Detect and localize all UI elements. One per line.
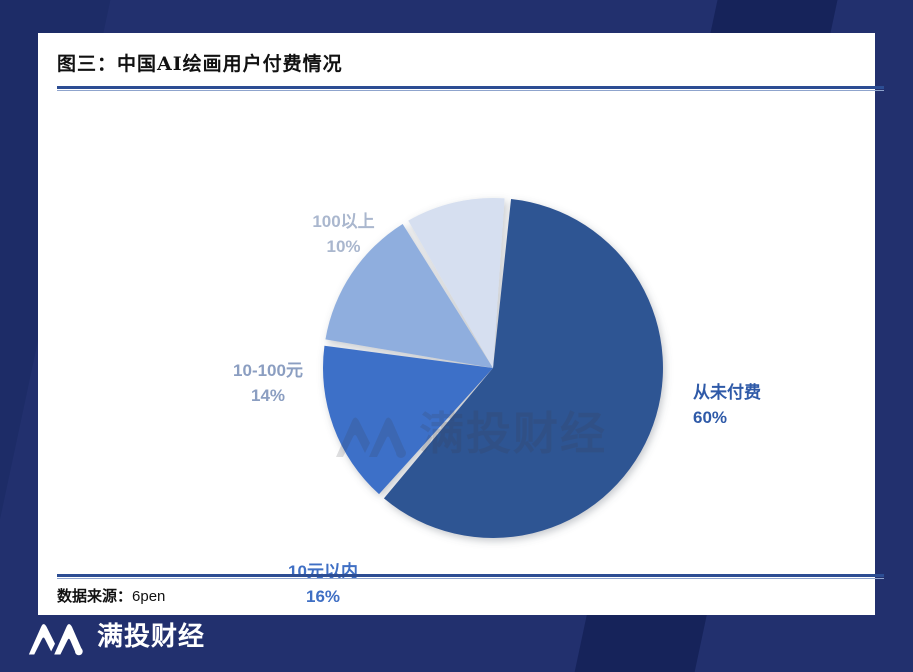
title-divider [57,86,884,89]
slice-label-10-to-100-yuan: 10-100元 14% [188,359,348,408]
chart-header: 图三：中国AI绘画用户付费情况 [57,49,884,91]
slice-label-percent: 16% [248,585,398,610]
slice-label-over-100: 100以上 10% [266,210,421,259]
brand-name: 满投财经 [97,623,205,649]
source-value: 6pen [132,588,165,605]
footer-divider-thin [57,578,884,579]
slice-label-percent: 10% [266,235,421,260]
slice-label-text: 10-100元 [233,361,303,380]
pie-chart-plot-area: 满投财经 从未付费 60% 10元以内 16% 10-100元 14% 100以… [38,93,875,563]
source-label: 数据来源： [57,587,132,605]
mountain-m-logo-icon [24,616,86,656]
source-note: 数据来源：6pen [57,585,165,606]
slice-label-percent: 14% [188,384,348,409]
pie-chart-svg [38,93,875,563]
slice-label-under-10-yuan: 10元以内 16% [248,560,398,609]
brand-bar: 满投财经 [24,614,205,658]
slice-label-percent: 60% [693,406,761,431]
title-divider-thin [57,90,884,91]
slice-label-text: 从未付费 [693,383,761,402]
page-title: 图三：中国AI绘画用户付费情况 [57,49,884,76]
chart-card: 图三：中国AI绘画用户付费情况 满投财经 从未付费 60% [38,33,875,615]
footer-divider [57,574,884,577]
slice-label-never-paid: 从未付费 60% [693,381,761,430]
slice-label-text: 100以上 [312,212,374,231]
